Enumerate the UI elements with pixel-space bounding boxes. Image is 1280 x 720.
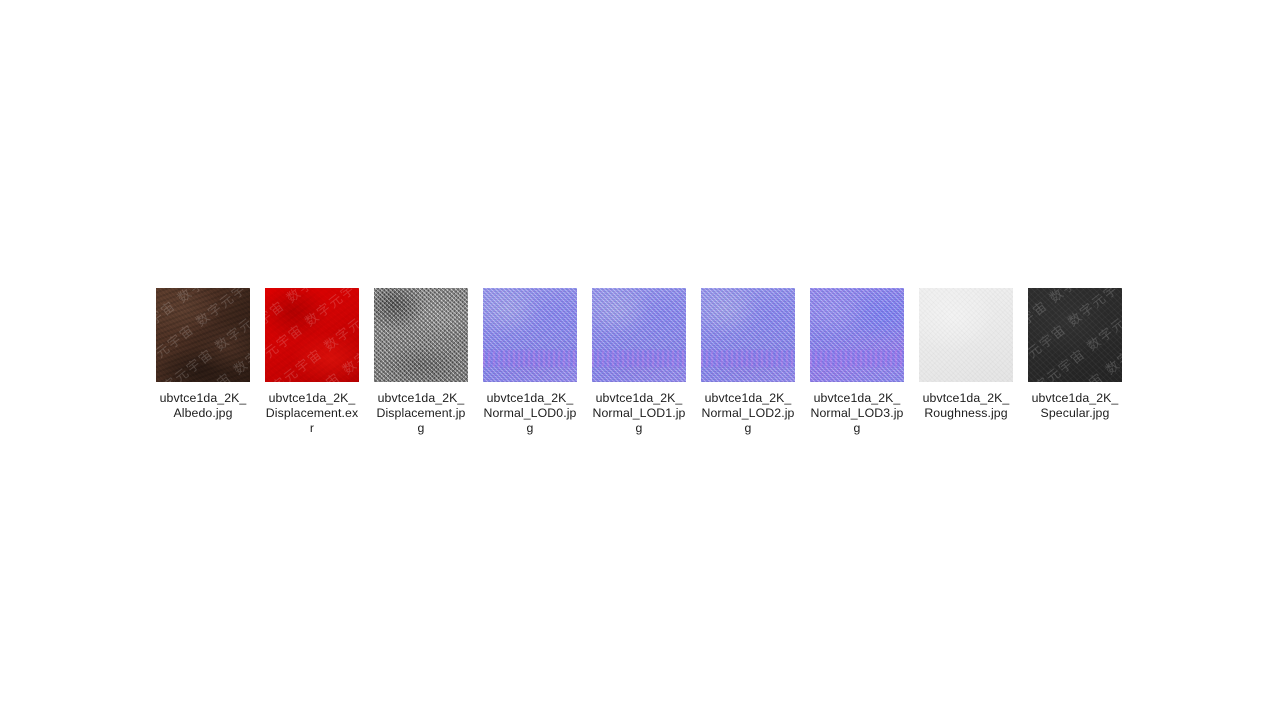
file-item[interactable]: 数字元宇宙 数字元宇宙数字元宇宙 数字元宇宙数字元宇宙 数字元宇宙数字元宇宙 数…: [1028, 288, 1122, 421]
texture-grain-overlay: [156, 288, 250, 382]
normal-map-streak: [483, 350, 577, 367]
file-thumbnail-specular[interactable]: 数字元宇宙 数字元宇宙数字元宇宙 数字元宇宙数字元宇宙 数字元宇宙数字元宇宙 数…: [1028, 288, 1122, 382]
texture-grain-overlay: [701, 288, 795, 382]
file-name-label: ubvtce1da_2K_Roughness.jpg: [919, 391, 1013, 421]
texture-grain-overlay: [919, 288, 1013, 382]
file-item[interactable]: ubvtce1da_2K_Roughness.jpg: [919, 288, 1013, 421]
file-thumbnail-grid: 数字元宇宙 数字元宇宙数字元宇宙 数字元宇宙数字元宇宙 数字元宇宙数字元宇宙 数…: [156, 288, 1126, 436]
file-thumbnail-albedo[interactable]: 数字元宇宙 数字元宇宙数字元宇宙 数字元宇宙数字元宇宙 数字元宇宙数字元宇宙 数…: [156, 288, 250, 382]
file-item[interactable]: ubvtce1da_2K_Normal_LOD1.jpg: [592, 288, 686, 436]
file-item[interactable]: ubvtce1da_2K_Normal_LOD2.jpg: [701, 288, 795, 436]
texture-grain-overlay: [1028, 288, 1122, 382]
normal-map-streak: [592, 350, 686, 367]
texture-preview-icon: 数字元宇宙 数字元宇宙数字元宇宙 数字元宇宙数字元宇宙 数字元宇宙数字元宇宙 数…: [1028, 288, 1122, 382]
file-thumbnail-normal[interactable]: [701, 288, 795, 382]
file-item[interactable]: ubvtce1da_2K_Normal_LOD3.jpg: [810, 288, 904, 436]
file-name-label: ubvtce1da_2K_Displacement.exr: [265, 391, 359, 436]
file-name-label: ubvtce1da_2K_Normal_LOD0.jpg: [483, 391, 577, 436]
texture-preview-icon: [701, 288, 795, 382]
texture-grain-overlay: [483, 288, 577, 382]
texture-preview-icon: 数字元宇宙 数字元宇宙数字元宇宙 数字元宇宙数字元宇宙 数字元宇宙数字元宇宙 数…: [265, 288, 359, 382]
file-item[interactable]: ubvtce1da_2K_Displacement.jpg: [374, 288, 468, 436]
texture-preview-icon: [919, 288, 1013, 382]
file-item[interactable]: ubvtce1da_2K_Normal_LOD0.jpg: [483, 288, 577, 436]
file-thumbnail-normal[interactable]: [483, 288, 577, 382]
file-thumbnail-normal-lod3[interactable]: [810, 288, 904, 382]
texture-grain-overlay: [265, 288, 359, 382]
file-name-label: ubvtce1da_2K_Normal_LOD2.jpg: [701, 391, 795, 436]
file-item[interactable]: 数字元宇宙 数字元宇宙数字元宇宙 数字元宇宙数字元宇宙 数字元宇宙数字元宇宙 数…: [156, 288, 250, 421]
file-thumbnail-roughness[interactable]: [919, 288, 1013, 382]
texture-preview-icon: 数字元宇宙 数字元宇宙数字元宇宙 数字元宇宙数字元宇宙 数字元宇宙数字元宇宙 数…: [156, 288, 250, 382]
file-item[interactable]: 数字元宇宙 数字元宇宙数字元宇宙 数字元宇宙数字元宇宙 数字元宇宙数字元宇宙 数…: [265, 288, 359, 436]
normal-map-streak: [810, 350, 904, 367]
texture-grain-overlay: [810, 288, 904, 382]
file-thumbnail-displacement-exr[interactable]: 数字元宇宙 数字元宇宙数字元宇宙 数字元宇宙数字元宇宙 数字元宇宙数字元宇宙 数…: [265, 288, 359, 382]
file-thumbnail-normal[interactable]: [592, 288, 686, 382]
texture-grain-overlay: [374, 288, 468, 382]
file-name-label: ubvtce1da_2K_Albedo.jpg: [156, 391, 250, 421]
file-name-label: ubvtce1da_2K_Displacement.jpg: [374, 391, 468, 436]
texture-preview-icon: [810, 288, 904, 382]
file-name-label: ubvtce1da_2K_Normal_LOD1.jpg: [592, 391, 686, 436]
texture-preview-icon: [374, 288, 468, 382]
file-name-label: ubvtce1da_2K_Normal_LOD3.jpg: [810, 391, 904, 436]
file-thumbnail-displacement-jpg[interactable]: [374, 288, 468, 382]
normal-map-streak: [701, 350, 795, 367]
texture-preview-icon: [483, 288, 577, 382]
texture-grain-overlay: [592, 288, 686, 382]
file-name-label: ubvtce1da_2K_Specular.jpg: [1028, 391, 1122, 421]
texture-preview-icon: [592, 288, 686, 382]
